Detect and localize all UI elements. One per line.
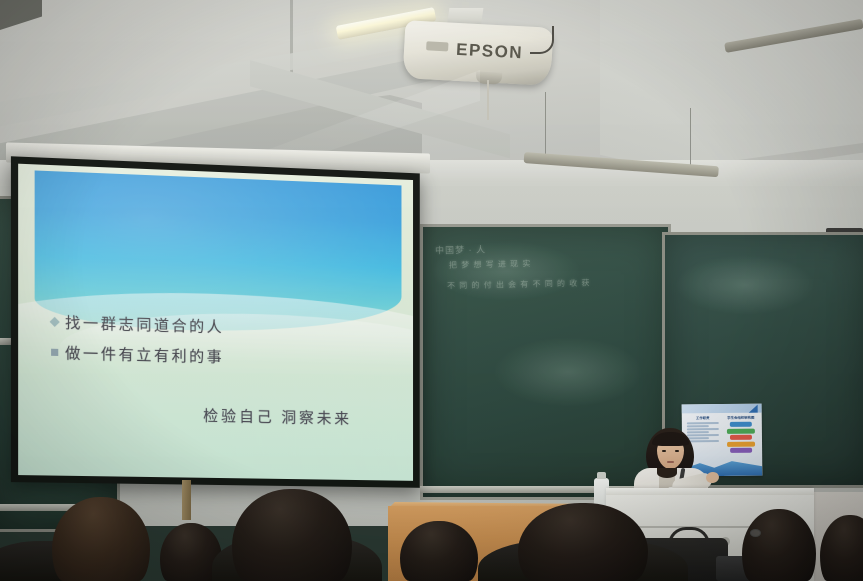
poster-left-title: 工作职责 [685,415,721,420]
audience-glasses-icon [750,529,761,537]
projector-lens-icon [476,71,503,84]
projection-screen: 找一群志同道合的人 做一件有立有利的事 检验自己 洞察未来 [11,156,420,488]
light-wire-1 [545,92,546,154]
slide-bullet-list: 找一群志同道合的人 做一件有立有利的事 [51,311,224,376]
projector-vent [426,41,448,51]
diamond-bullet-icon [49,317,59,327]
slide-footer-text: 检验自己 洞察未来 [203,404,352,428]
screen-support-pole [182,480,191,520]
bottle-cap [597,472,606,479]
chalk-line-3: 不 同 的 付 出 会 有 不 同 的 收 获 [447,277,591,291]
poster-right-title: 学生会组织架构图 [723,415,759,420]
projector-drop-cable [487,80,489,120]
poster-right-column: 学生会组织架构图 [723,415,759,455]
square-bullet-icon [51,349,58,356]
chalk-line-2: 把 梦 想 写 进 现 实 [449,258,532,271]
presenter-fringe [652,432,689,446]
lectern-top-edge [606,488,814,495]
projector-brand-label: EPSON [456,40,524,63]
presentation-slide: 找一群志同道合的人 做一件有立有利的事 检验自己 洞察未来 [18,164,413,481]
slide-bullet-text-1: 找一群志同道合的人 [65,311,224,337]
presenter-eye-left [662,450,666,452]
presenter-mouth [667,461,674,463]
chalk-line-1: 中国梦 · 人 [435,242,486,256]
poster-accent-triangle [749,405,758,413]
slide-bullet-text-2: 做一件有立有利的事 [65,342,224,367]
light-wire-2 [690,108,691,166]
slide-bullet-item: 做一件有立有利的事 [51,341,224,367]
slide-bullet-item: 找一群志同道合的人 [51,311,224,337]
classroom-photo: EPSON 中国梦 · 人 把 梦 想 写 进 现 实 不 同 的 付 出 会 … [0,0,863,581]
presenter-collar [657,468,677,478]
presenter-eye-right [675,450,679,452]
